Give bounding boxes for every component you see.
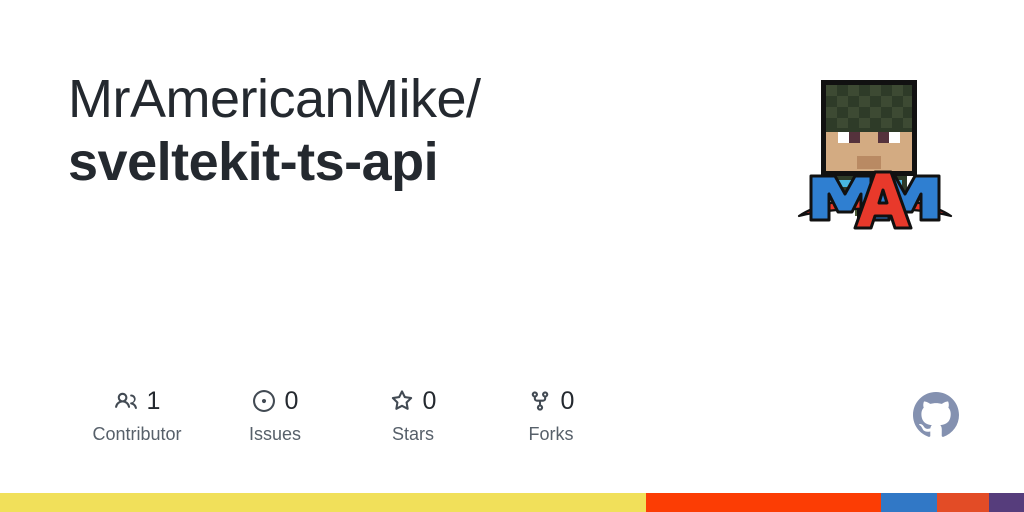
repo-owner: MrAmericanMike/ — [68, 68, 708, 131]
language-segment-html — [937, 493, 989, 512]
avatar — [795, 72, 955, 236]
page-title: MrAmericanMike/ sveltekit-ts-api — [68, 68, 708, 193]
stat-forks-label: Forks — [529, 425, 574, 443]
repo-forked-icon — [528, 389, 552, 413]
stat-issues-label: Issues — [249, 425, 301, 443]
language-segment-svelte — [646, 493, 881, 512]
issue-opened-icon — [252, 389, 276, 413]
stat-issues-count: 0 — [285, 389, 299, 414]
stat-stars: 0 Stars — [344, 386, 482, 443]
stat-stars-count: 0 — [423, 389, 437, 414]
stat-forks-count: 0 — [561, 389, 575, 414]
language-bar — [0, 493, 1024, 512]
stat-forks-top: 0 — [528, 386, 575, 416]
stat-contributors: 1 Contributor — [68, 386, 206, 443]
language-segment-typescript — [881, 493, 937, 512]
stat-contributors-count: 1 — [147, 389, 161, 414]
stat-stars-top: 0 — [390, 386, 437, 416]
repo-stats: 1 Contributor 0 Issues — [68, 386, 620, 443]
repo-name: sveltekit-ts-api — [68, 131, 708, 194]
language-segment-css — [989, 493, 1024, 512]
stat-forks: 0 Forks — [482, 386, 620, 443]
repo-social-preview-card: MrAmericanMike/ sveltekit-ts-api — [0, 0, 1024, 512]
stat-contributors-label: Contributor — [92, 425, 181, 443]
stat-issues: 0 Issues — [206, 386, 344, 443]
stat-stars-label: Stars — [392, 425, 434, 443]
people-icon — [114, 389, 138, 413]
stat-contributors-top: 1 — [114, 386, 161, 416]
github-octocat-icon — [913, 392, 959, 438]
star-icon — [390, 389, 414, 413]
language-segment-javascript — [0, 493, 646, 512]
stat-issues-top: 0 — [252, 386, 299, 416]
